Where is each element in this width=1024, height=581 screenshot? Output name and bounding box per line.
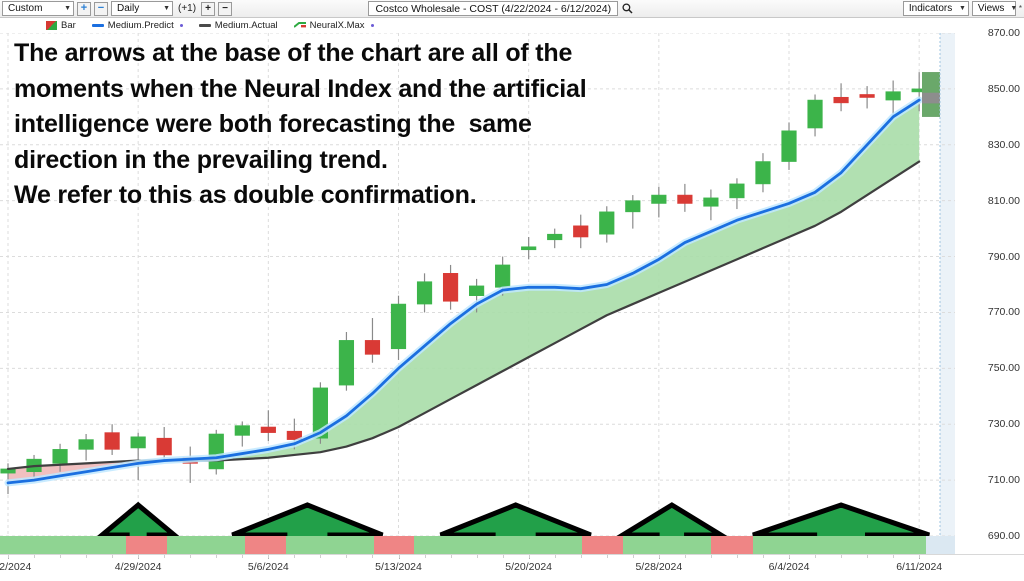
candlestick-series	[1, 72, 927, 494]
candle-body-up[interactable]	[547, 234, 562, 240]
legend-label: Bar	[61, 20, 76, 31]
neural-index-strip[interactable]	[0, 536, 955, 554]
date-axis-minor-tick	[320, 555, 321, 558]
neuralx-swatch-icon	[294, 21, 306, 30]
neural-index-segment-down	[582, 536, 623, 554]
candle-body-up[interactable]	[79, 440, 94, 450]
candle-body-up[interactable]	[599, 212, 614, 234]
top-toolbar: Custom ▼ + − Daily ▼ (+1) + − Costco Who…	[0, 0, 1024, 18]
date-axis-minor-tick	[711, 555, 712, 558]
search-icon[interactable]	[622, 3, 633, 14]
neural-index-segment-up	[753, 536, 927, 554]
candle-body-down[interactable]	[365, 340, 380, 354]
neural-index-segment-up	[623, 536, 712, 554]
price-axis-label: 790.00	[988, 251, 1020, 263]
range-select[interactable]: Custom ▼	[2, 1, 74, 16]
range-decrease-button[interactable]: −	[94, 2, 108, 16]
date-axis-minor-tick	[633, 555, 634, 558]
candle-body-down[interactable]	[105, 433, 120, 450]
double-confirmation-arrow-up[interactable]	[753, 505, 929, 536]
candle-body-up[interactable]	[782, 131, 797, 162]
candle-body-up[interactable]	[469, 286, 484, 296]
line-swatch-icon	[199, 24, 211, 27]
price-axis-label: 830.00	[988, 139, 1020, 151]
candle-body-up[interactable]	[391, 304, 406, 349]
neural-index-segment-down	[374, 536, 414, 554]
date-axis-minor-tick	[607, 555, 608, 558]
date-axis-minor-tick	[503, 555, 504, 558]
views-label: Views	[978, 3, 1005, 14]
neural-index-segment-up	[0, 536, 126, 554]
candle-body-up[interactable]	[495, 265, 510, 287]
forecast-zone-background	[940, 33, 955, 536]
offset-label: (+1)	[178, 3, 196, 14]
candle-body-up[interactable]	[235, 426, 250, 436]
candle-body-down[interactable]	[573, 226, 588, 237]
legend-label: Medium.Predict	[108, 20, 174, 31]
date-axis-label: 4/22/2024	[0, 561, 31, 573]
toolbar-right-group: Indicators ▼ Views ▼ *	[903, 1, 1022, 16]
date-axis-minor-tick	[789, 555, 790, 558]
neural-index-segment-up	[414, 536, 581, 554]
chevron-down-icon: ▼	[1010, 5, 1017, 12]
legend-label: NeuralX.Max	[310, 20, 365, 31]
candle-body-down[interactable]	[860, 94, 875, 97]
date-axis-minor-tick	[425, 555, 426, 558]
chart-plot-area[interactable]: $	[0, 33, 955, 536]
offset-decrease-button[interactable]: −	[218, 2, 232, 16]
price-axis-label: 710.00	[988, 474, 1020, 486]
legend-item-medium-predict[interactable]: Medium.Predict	[92, 20, 183, 31]
candle-body-up[interactable]	[339, 340, 354, 385]
price-axis[interactable]: 870.00850.00830.00810.00790.00770.00750.…	[955, 33, 1024, 536]
price-axis-label: 850.00	[988, 83, 1020, 95]
date-axis-label: 5/28/2024	[635, 561, 682, 573]
date-axis-minor-tick	[659, 555, 660, 558]
double-confirmation-arrows	[102, 505, 929, 536]
date-axis-minor-tick	[294, 555, 295, 558]
candle-body-up[interactable]	[417, 282, 432, 304]
date-axis-minor-tick	[399, 555, 400, 558]
candle-body-down[interactable]	[834, 97, 849, 103]
overflow-icon[interactable]: *	[1019, 4, 1022, 13]
chevron-down-icon: ▼	[64, 5, 71, 12]
date-axis-minor-tick	[268, 555, 269, 558]
date-axis-label: 6/4/2024	[769, 561, 810, 573]
date-axis-label: 5/6/2024	[248, 561, 289, 573]
candle-body-up[interactable]	[131, 437, 146, 448]
chart-title-group: Costco Wholesale - COST (4/22/2024 - 6/1…	[368, 1, 633, 16]
date-axis-minor-tick	[737, 555, 738, 558]
views-dropdown[interactable]: Views ▼	[972, 1, 1016, 16]
price-axis-label: 730.00	[988, 418, 1020, 430]
date-axis-minor-tick	[451, 555, 452, 558]
line-swatch-icon	[92, 24, 104, 27]
legend-item-medium-actual[interactable]: Medium.Actual	[199, 20, 278, 31]
date-axis-minor-tick	[581, 555, 582, 558]
date-axis-minor-tick	[867, 555, 868, 558]
forecast-bar-upper	[922, 72, 940, 93]
date-axis-label: 4/29/2024	[115, 561, 162, 573]
price-axis-label: 690.00	[988, 530, 1020, 542]
date-axis-minor-tick	[815, 555, 816, 558]
neural-index-segment-up	[286, 536, 375, 554]
date-axis-minor-tick	[841, 555, 842, 558]
chart-application-window: Custom ▼ + − Daily ▼ (+1) + − Costco Who…	[0, 0, 1024, 581]
candle-body-down[interactable]	[678, 195, 693, 203]
price-axis-label: 770.00	[988, 306, 1020, 318]
interval-select[interactable]: Daily ▼	[111, 1, 173, 16]
chevron-down-icon: ▼	[959, 5, 966, 12]
legend-dot-icon	[180, 24, 183, 27]
candle-body-up[interactable]	[209, 434, 224, 469]
legend-item-bar[interactable]: Bar	[46, 20, 76, 31]
date-axis-minor-tick	[86, 555, 87, 558]
date-axis-minor-tick	[685, 555, 686, 558]
date-axis[interactable]: 4/22/20244/29/20245/6/20245/13/20245/20/…	[0, 554, 1024, 581]
date-axis-minor-tick	[372, 555, 373, 558]
double-confirmation-arrow-up[interactable]	[232, 505, 382, 536]
date-axis-minor-tick	[242, 555, 243, 558]
chart-title[interactable]: Costco Wholesale - COST (4/22/2024 - 6/1…	[368, 1, 618, 16]
double-confirmation-arrow-up[interactable]	[102, 505, 174, 536]
date-axis-label: 5/13/2024	[375, 561, 422, 573]
candle-body-down[interactable]	[261, 427, 276, 433]
date-axis-minor-tick	[138, 555, 139, 558]
date-axis-minor-tick	[164, 555, 165, 558]
range-increase-button[interactable]: +	[77, 2, 91, 16]
candle-body-up[interactable]	[756, 162, 771, 184]
chevron-down-icon: ▼	[163, 5, 170, 12]
date-axis-minor-tick	[346, 555, 347, 558]
price-axis-label: 750.00	[988, 362, 1020, 374]
date-axis-minor-tick	[60, 555, 61, 558]
date-axis-minor-tick	[529, 555, 530, 558]
price-axis-label: 870.00	[988, 27, 1020, 39]
candle-body-up[interactable]	[808, 100, 823, 128]
date-axis-minor-tick	[34, 555, 35, 558]
legend-label: Medium.Actual	[215, 20, 278, 31]
date-axis-minor-tick	[555, 555, 556, 558]
neural-index-segment-down	[245, 536, 285, 554]
candlestick-chart: $	[0, 33, 955, 536]
date-axis-minor-tick	[893, 555, 894, 558]
candle-body-up[interactable]	[521, 247, 536, 250]
neural-index-segment-down	[126, 536, 167, 554]
candle-body-up[interactable]	[730, 184, 745, 198]
candle-body-up[interactable]	[53, 449, 68, 463]
forecast-bar-lower	[922, 103, 940, 116]
date-axis-label: 5/20/2024	[505, 561, 552, 573]
candle-body-up[interactable]	[626, 201, 641, 212]
candle-body-up[interactable]	[886, 92, 901, 100]
date-axis-minor-tick	[112, 555, 113, 558]
candle-body-up[interactable]	[652, 195, 667, 203]
double-confirmation-arrow-up[interactable]	[623, 505, 721, 536]
offset-increase-button[interactable]: +	[201, 2, 215, 16]
date-axis-minor-tick	[216, 555, 217, 558]
candle-body-down[interactable]	[157, 438, 172, 455]
chart-legend: BarMedium.PredictMedium.ActualNeuralX.Ma…	[0, 18, 1024, 33]
legend-dot-icon	[371, 24, 374, 27]
double-confirmation-arrow-up[interactable]	[441, 505, 591, 536]
interval-select-value: Daily	[117, 3, 139, 14]
price-axis-label: 810.00	[988, 195, 1020, 207]
range-select-value: Custom	[8, 3, 42, 14]
date-axis-minor-tick	[8, 555, 9, 558]
neural-index-segment-down	[711, 536, 752, 554]
bar-swatch-icon	[46, 21, 57, 30]
date-axis-minor-tick	[190, 555, 191, 558]
legend-item-neuralx-max[interactable]: NeuralX.Max	[294, 20, 374, 31]
neural-index-segment-up	[167, 536, 245, 554]
date-axis-minor-tick	[763, 555, 764, 558]
indicators-label: Indicators	[909, 3, 952, 14]
date-axis-label: 6/11/2024	[896, 561, 942, 573]
date-axis-minor-tick	[477, 555, 478, 558]
neural-index-forecast-segment	[926, 536, 955, 554]
candle-body-up[interactable]	[704, 198, 719, 206]
indicators-dropdown[interactable]: Indicators ▼	[903, 1, 969, 16]
candle-body-down[interactable]	[443, 273, 458, 301]
date-axis-minor-tick	[919, 555, 920, 558]
